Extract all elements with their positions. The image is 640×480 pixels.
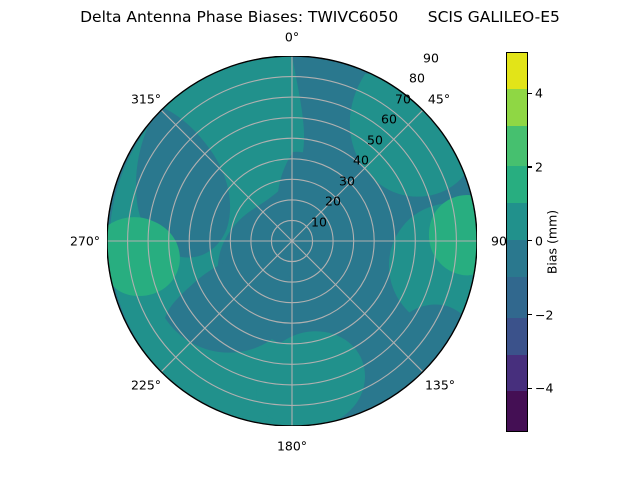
matplotlib-figure: Delta Antenna Phase Biases: TWIVC6050 SC… [0,0,640,480]
polar-axes[interactable]: 0° 45° 90 135° 180° 225° 270° 315° 10 20… [107,56,477,426]
colorbar-tick-4 [528,93,532,94]
radial-label-60: 60 [381,112,397,127]
radial-label-90: 90 [423,51,439,66]
colorbar-ticklabel-neg4: −4 [535,381,553,396]
colorbar-axis-label: Bias (mm) [545,210,560,274]
colorbar-ticklabel-4: 4 [535,86,543,101]
angular-gridlines [107,56,477,426]
colorbar[interactable] [506,52,528,432]
radial-label-30: 30 [339,174,355,189]
colorbar-band-1 [506,89,528,126]
colorbar-ticklabel-2: 2 [535,160,543,175]
colorbar-tick-2 [528,166,532,167]
radial-label-10: 10 [311,215,327,230]
radial-label-50: 50 [367,133,383,148]
colorbar-tick-neg2 [528,314,532,315]
radial-label-70: 70 [395,92,411,107]
angular-label-0: 0° [285,30,299,45]
colorbar-band-3 [506,166,528,203]
colorbar-ticklabel-neg2: −2 [535,307,553,322]
angular-label-135: 135° [425,378,455,393]
colorbar-ticklabel-0: 0 [535,233,543,248]
angular-label-315: 315° [131,92,161,107]
colorbar-band-4 [506,203,528,240]
colorbar-band-9 [506,391,528,432]
angular-label-90: 90 [491,234,507,249]
colorbar-band-0 [506,52,528,89]
colorbar-band-7 [506,318,528,355]
angular-label-180: 180° [277,439,307,454]
colorbar-tick-neg4 [528,388,532,389]
angular-label-270: 270° [70,234,100,249]
polar-contour-plot [107,56,477,426]
colorbar-band-8 [506,355,528,392]
radial-label-20: 20 [325,194,341,209]
colorbar-tick-0 [528,240,532,241]
colorbar-band-5 [506,240,528,277]
figure-title: Delta Antenna Phase Biases: TWIVC6050 SC… [0,8,640,26]
radial-label-40: 40 [353,153,369,168]
radial-label-80: 80 [409,71,425,86]
angular-label-45: 45° [428,92,450,107]
colorbar-band-6 [506,277,528,318]
colorbar-band-2 [506,126,528,167]
angular-label-225: 225° [131,378,161,393]
